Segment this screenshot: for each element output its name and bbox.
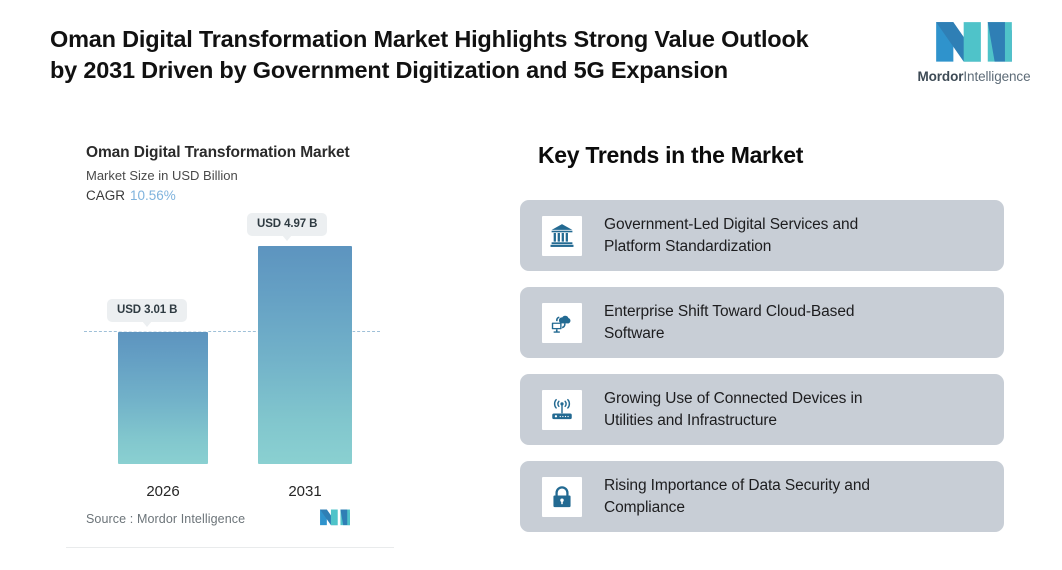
trend-card-text: Rising Importance of Data Security and C… [604,475,870,519]
trend-card-data-security-compliance[interactable]: Rising Importance of Data Security and C… [520,461,1004,532]
trend-card-text: Enterprise Shift Toward Cloud-Based Soft… [604,301,854,345]
chart-subtitle: Market Size in USD Billion [86,168,238,183]
page-title: Oman Digital Transformation Market Highl… [50,24,870,86]
cagr-value: 10.56% [130,188,176,203]
brand-wordmark: MordorIntelligence [917,69,1030,84]
bar-group-2031: USD 4.97 B 2031 [250,218,380,464]
trend-card-enterprise-cloud-shift[interactable]: Enterprise Shift Toward Cloud-Based Soft… [520,287,1004,358]
infographic-page: Oman Digital Transformation Market Highl… [0,0,1062,570]
brand-word-light: Intelligence [963,69,1030,84]
bar-2031[interactable] [258,246,352,464]
padlock-icon [542,477,582,517]
header: Oman Digital Transformation Market Highl… [0,0,1062,108]
market-size-chart-panel: Oman Digital Transformation Market Marke… [60,130,400,548]
bar-value-label-2031: USD 4.97 B [247,213,327,236]
x-axis-label-2026: 2026 [118,483,208,500]
trend-text-line-1: Government-Led Digital Services and [604,216,858,233]
trend-card-text: Government-Led Digital Services and Plat… [604,214,858,258]
trend-text-line-1: Enterprise Shift Toward Cloud-Based [604,303,854,320]
trend-text-line-2: Utilities and Infrastructure [604,412,777,429]
trend-text-line-1: Growing Use of Connected Devices in [604,390,862,407]
key-trends-panel: Key Trends in the Market Government-Led … [520,130,1010,550]
chart-source-logo-icon [318,508,352,526]
brand-logo: MordorIntelligence [904,18,1044,90]
bank-building-icon [542,216,582,256]
chart-cagr: CAGR10.56% [86,188,176,203]
x-axis-label-2031: 2031 [258,483,352,500]
bar-group-2026: USD 3.01 B 2026 [84,218,214,464]
mordor-intelligence-logo-icon [931,18,1017,64]
cloud-computer-sync-icon [542,303,582,343]
trend-text-line-2: Compliance [604,499,685,516]
bar-2026[interactable] [118,332,208,464]
key-trends-heading: Key Trends in the Market [538,142,803,169]
trend-card-government-led-digital-services[interactable]: Government-Led Digital Services and Plat… [520,200,1004,271]
trend-text-line-1: Rising Importance of Data Security and [604,477,870,494]
cagr-label: CAGR [86,188,125,203]
trend-card-text: Growing Use of Connected Devices in Util… [604,388,862,432]
chart-source-value: Mordor Intelligence [137,512,245,526]
trend-card-connected-devices[interactable]: Growing Use of Connected Devices in Util… [520,374,1004,445]
chart-title: Oman Digital Transformation Market [86,144,350,162]
chart-source-label: Source : [86,512,133,526]
trend-text-line-2: Software [604,325,664,342]
wireless-router-icon [542,390,582,430]
page-title-line-2: by 2031 Driven by Government Digitizatio… [50,55,870,86]
chart-source: Source : Mordor Intelligence [86,512,245,526]
trend-text-line-2: Platform Standardization [604,238,771,255]
page-title-line-1: Oman Digital Transformation Market Highl… [50,26,808,52]
brand-word-bold: Mordor [917,69,963,84]
bar-value-label-2026: USD 3.01 B [107,299,187,322]
chart-plot-area: USD 3.01 B 2026 USD 4.97 B 2031 [60,218,400,508]
